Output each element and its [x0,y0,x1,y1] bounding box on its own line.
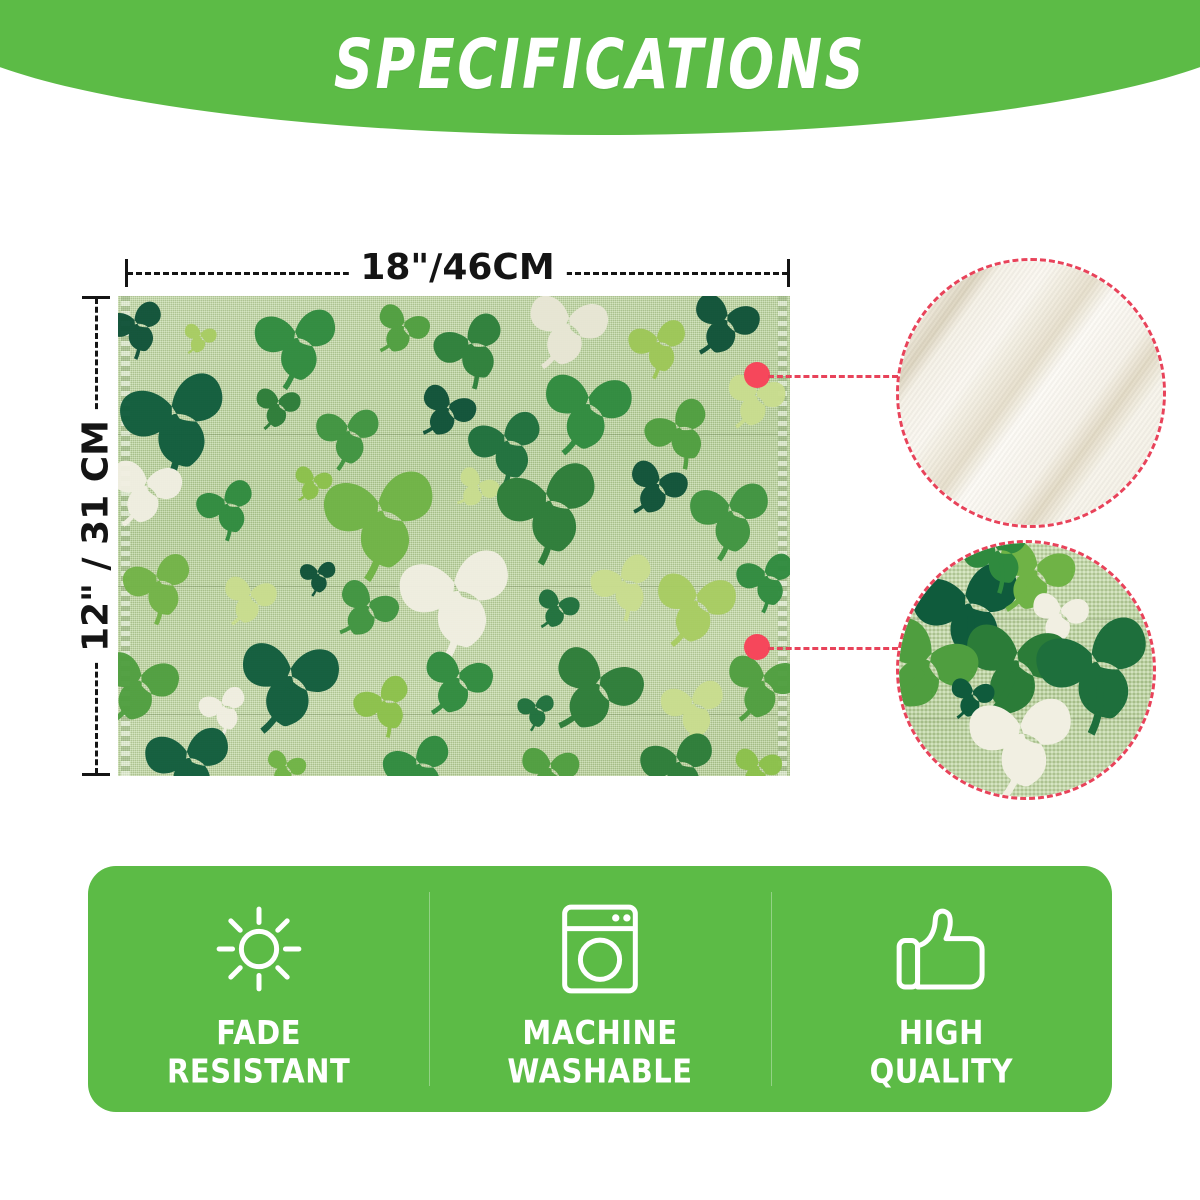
pattern-closeup-shamrocks [899,543,1153,797]
header-banner: SPECIFICATIONS [0,0,1200,135]
width-dimension-dash-right [530,272,788,275]
callout-marker-backing[interactable] [744,362,770,388]
height-dimension-line: 12" / 31 CM [95,296,97,776]
thumbs-up-icon [893,898,989,1000]
fabric-backing-photo [899,261,1163,525]
washing-machine-icon [557,898,643,1000]
feature-label-fade-resistant: FADE RESISTANT [167,1014,350,1091]
callout-leader-pattern [768,647,898,650]
feature-high-quality: HIGH QUALITY [771,866,1112,1112]
feature-machine-washable: MACHINE WASHABLE [429,866,770,1112]
specifications-infographic: SPECIFICATIONS 18"/46CM 12" / 31 CM [0,0,1200,1200]
features-panel: FADE RESISTANT MACHINE WASHABLE [88,866,1112,1112]
feature-label-machine-washable: MACHINE WASHABLE [507,1014,692,1091]
feature-label-high-quality: HIGH QUALITY [870,1014,1013,1091]
height-dimension-label: 12" / 31 CM [76,410,117,662]
callout-marker-pattern[interactable] [744,634,770,660]
sun-icon [213,898,305,1000]
product-flag-image [118,296,790,776]
shamrock-pattern [118,296,790,776]
callout-leader-backing [768,375,898,378]
callout-pattern-closeup [896,540,1156,800]
width-dimension-line: 18"/46CM [125,272,790,274]
width-dimension-dash-left [127,272,385,275]
page-title: SPECIFICATIONS [0,26,1200,105]
width-dimension-label: 18"/46CM [348,247,566,288]
feature-fade-resistant: FADE RESISTANT [88,866,429,1112]
callout-fabric-backing [896,258,1166,528]
